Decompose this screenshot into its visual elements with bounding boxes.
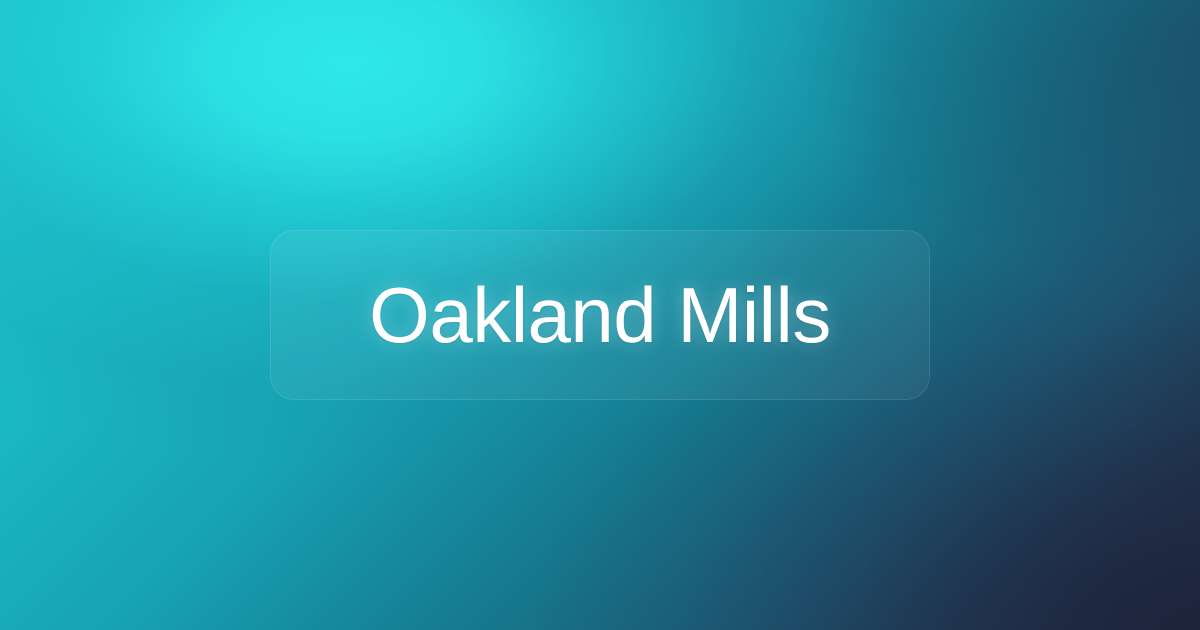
page-title: Oakland Mills — [369, 276, 831, 354]
title-card: Oakland Mills — [270, 230, 930, 400]
share-card-canvas: Oakland Mills — [0, 0, 1200, 630]
